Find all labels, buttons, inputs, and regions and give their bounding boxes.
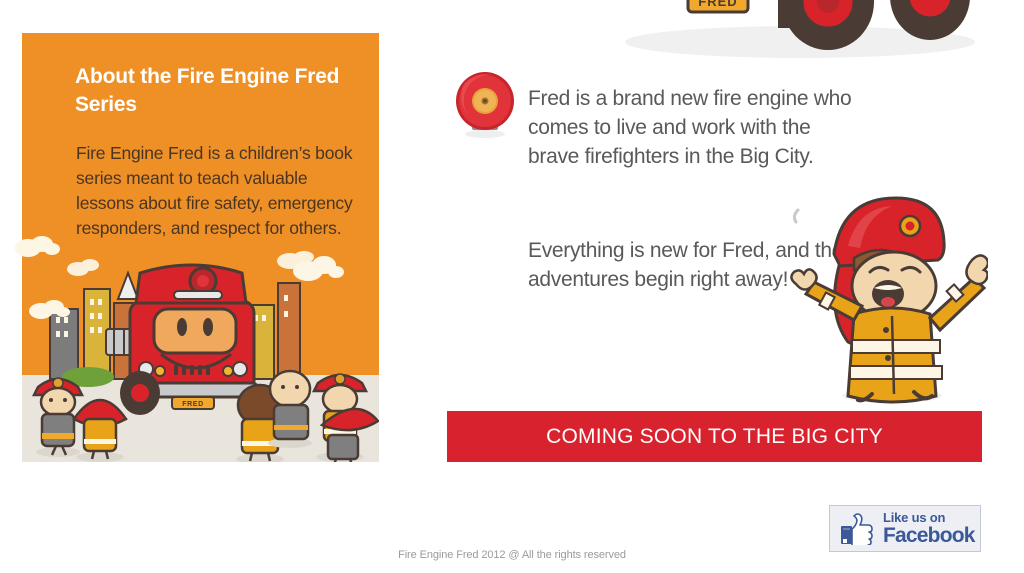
thumbs-up-icon bbox=[840, 513, 874, 545]
fire-alarm-bell-icon bbox=[452, 70, 518, 140]
coming-soon-banner[interactable]: COMING SOON TO THE BIG CITY bbox=[447, 411, 982, 462]
about-body-text: Fire Engine Fred is a children’s book se… bbox=[76, 141, 354, 241]
page-root: FRED About the Fire Engine Fred Series F… bbox=[0, 0, 1024, 573]
fire-truck-top-illustration: FRED bbox=[600, 0, 1000, 62]
svg-text:FRED: FRED bbox=[182, 401, 203, 408]
svg-text:FRED: FRED bbox=[698, 0, 737, 9]
footer-copyright: Fire Engine Fred 2012 @ All the rights r… bbox=[0, 549, 1024, 561]
intro-paragraph-1: Fred is a brand new fire engine who come… bbox=[528, 84, 858, 171]
intro-paragraph-2: Everything is new for Fred, and the adve… bbox=[528, 236, 858, 294]
about-panel: About the Fire Engine Fred Series Fire E… bbox=[22, 33, 379, 462]
coming-soon-label: COMING SOON TO THE BIG CITY bbox=[546, 425, 883, 449]
about-heading: About the Fire Engine Fred Series bbox=[75, 63, 350, 119]
firefighter-character-illustration bbox=[788, 188, 988, 406]
facebook-like-label: Like us on bbox=[883, 511, 975, 524]
facebook-like-badge[interactable]: Like us on Facebook bbox=[829, 505, 981, 552]
facebook-brand-label: Facebook bbox=[883, 525, 975, 546]
facebook-badge-text: Like us on Facebook bbox=[883, 511, 975, 546]
fire-engine-scene-illustration: FRED bbox=[22, 247, 379, 462]
